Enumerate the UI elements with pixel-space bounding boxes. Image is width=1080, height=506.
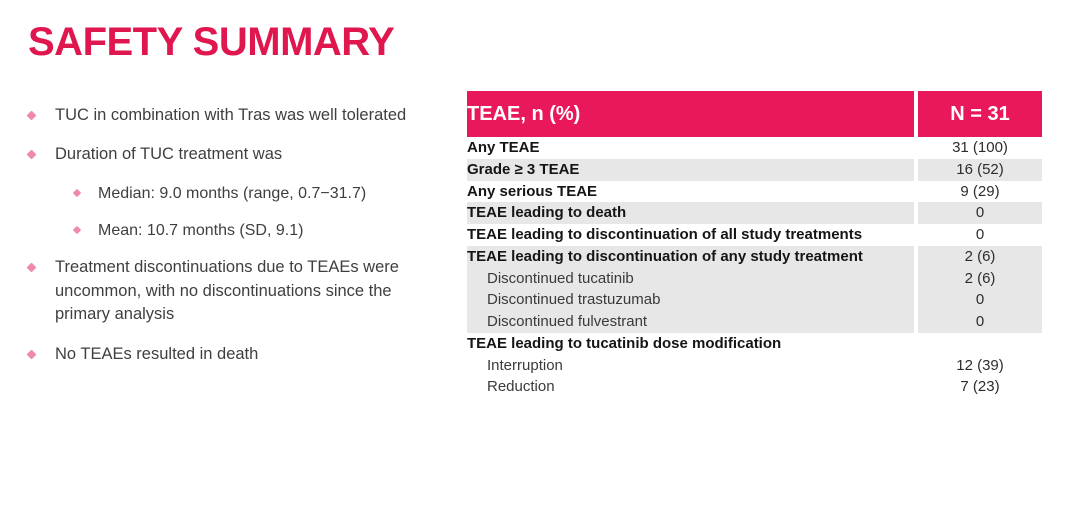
sub-row-value: 0 <box>918 289 1042 311</box>
list-item: Treatment discontinuations due to TEAEs … <box>28 256 428 326</box>
table-header-row: TEAE, n (%) N = 31 <box>467 91 1042 137</box>
teae-table-container: TEAE, n (%) N = 31 Any TEAE 31 (100) Gra… <box>467 91 1042 398</box>
row-value: 9 (29) <box>918 181 1042 203</box>
sub-row-value: 12 (39) <box>918 355 1042 377</box>
list-item: No TEAEs resulted in death <box>28 343 428 366</box>
diamond-bullet-icon <box>73 189 81 197</box>
row-label-group: TEAE leading to tucatinib dose modificat… <box>467 333 914 398</box>
row-label: TEAE leading to tucatinib dose modificat… <box>467 333 914 355</box>
diamond-bullet-icon <box>27 111 37 121</box>
sub-row-label: Discontinued fulvestrant <box>467 311 914 333</box>
row-label: Any TEAE <box>467 137 914 159</box>
row-value: 2 (6) <box>918 246 1042 268</box>
row-value: 0 <box>918 202 1042 224</box>
row-label: Grade ≥ 3 TEAE <box>467 159 914 181</box>
table-row: Any TEAE 31 (100) <box>467 137 1042 159</box>
row-value-group: 12 (39) 7 (23) <box>918 333 1042 398</box>
sub-row-value: 0 <box>918 311 1042 333</box>
table-row: Any serious TEAE 9 (29) <box>467 181 1042 203</box>
list-item: Duration of TUC treatment was <box>28 143 428 166</box>
list-item: Median: 9.0 months (range, 0.7−31.7) <box>74 183 428 206</box>
table-row: Grade ≥ 3 TEAE 16 (52) <box>467 159 1042 181</box>
list-item: TUC in combination with Tras was well to… <box>28 104 428 127</box>
row-label: TEAE leading to discontinuation of any s… <box>467 246 914 268</box>
list-item-label: No TEAEs resulted in death <box>55 343 258 366</box>
row-value: 0 <box>918 224 1042 246</box>
column-header-n: N = 31 <box>918 91 1042 137</box>
sub-row-value: 2 (6) <box>918 268 1042 290</box>
row-label: TEAE leading to discontinuation of all s… <box>467 224 914 246</box>
page-title: SAFETY SUMMARY <box>28 22 394 62</box>
row-value: 31 (100) <box>918 137 1042 159</box>
teae-table: TEAE, n (%) N = 31 Any TEAE 31 (100) Gra… <box>467 91 1042 398</box>
diamond-bullet-icon <box>27 150 37 160</box>
sub-row-label: Discontinued tucatinib <box>467 268 914 290</box>
sub-row-label: Interruption <box>467 355 914 377</box>
row-value: 16 (52) <box>918 159 1042 181</box>
list-item-label: Duration of TUC treatment was <box>55 143 282 166</box>
sub-row-value: 7 (23) <box>918 376 1042 398</box>
summary-bullet-list: TUC in combination with Tras was well to… <box>28 104 428 382</box>
diamond-bullet-icon <box>27 263 37 273</box>
table-row: TEAE leading to discontinuation of all s… <box>467 224 1042 246</box>
list-item: Mean: 10.7 months (SD, 9.1) <box>74 220 428 243</box>
column-header-teae: TEAE, n (%) <box>467 91 914 137</box>
row-label: Any serious TEAE <box>467 181 914 203</box>
diamond-bullet-icon <box>27 349 37 359</box>
list-item-label: Median: 9.0 months (range, 0.7−31.7) <box>98 183 366 206</box>
sub-row-label: Discontinued trastuzumab <box>467 289 914 311</box>
table-row-group: TEAE leading to discontinuation of any s… <box>467 246 1042 333</box>
list-item-label: TUC in combination with Tras was well to… <box>55 104 406 127</box>
table-row-group: TEAE leading to tucatinib dose modificat… <box>467 333 1042 398</box>
list-item-label: Mean: 10.7 months (SD, 9.1) <box>98 220 303 243</box>
row-label: TEAE leading to death <box>467 202 914 224</box>
row-label-group: TEAE leading to discontinuation of any s… <box>467 246 914 333</box>
list-item-label: Treatment discontinuations due to TEAEs … <box>55 256 428 326</box>
table-row: TEAE leading to death 0 <box>467 202 1042 224</box>
row-value-group: 2 (6) 2 (6) 0 0 <box>918 246 1042 333</box>
diamond-bullet-icon <box>73 225 81 233</box>
sub-row-label: Reduction <box>467 376 914 398</box>
